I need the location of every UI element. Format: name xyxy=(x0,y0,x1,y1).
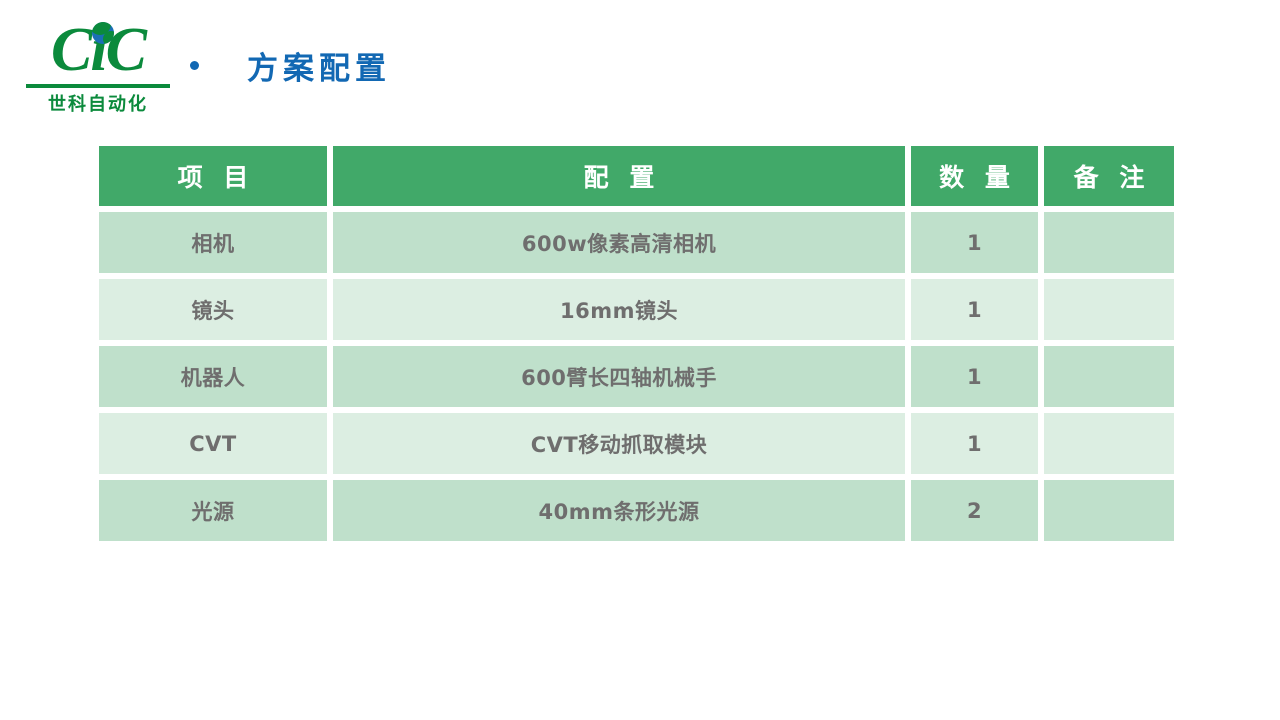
cell-qty: 1 xyxy=(911,212,1038,273)
logo-underline xyxy=(26,84,170,88)
logo-mark: CiC xyxy=(22,18,174,86)
table-row: 光源 40mm条形光源 2 xyxy=(99,480,1174,541)
cell-config: 600w像素高清相机 xyxy=(333,212,905,273)
cell-qty: 1 xyxy=(911,279,1038,340)
cell-qty: 2 xyxy=(911,480,1038,541)
table-header: 项 目 配 置 数 量 备 注 xyxy=(99,146,1174,206)
cell-note xyxy=(1044,212,1174,273)
column-header-config: 配 置 xyxy=(333,146,905,206)
bullet-icon xyxy=(190,61,199,70)
globe-icon xyxy=(92,22,114,44)
cell-config: 16mm镜头 xyxy=(333,279,905,340)
cell-config: 600臂长四轴机械手 xyxy=(333,346,905,407)
column-header-note: 备 注 xyxy=(1044,146,1174,206)
company-logo: CiC 世科自动化 xyxy=(22,18,174,116)
cell-item: 光源 xyxy=(99,480,327,541)
table-row: CVT CVT移动抓取模块 1 xyxy=(99,413,1174,474)
column-header-item: 项 目 xyxy=(99,146,327,206)
table-header-row: 项 目 配 置 数 量 备 注 xyxy=(99,146,1174,206)
slide-title-row: 方案配置 xyxy=(190,40,391,90)
cell-note xyxy=(1044,413,1174,474)
cell-item: 镜头 xyxy=(99,279,327,340)
cell-item: 相机 xyxy=(99,212,327,273)
table-row: 机器人 600臂长四轴机械手 1 xyxy=(99,346,1174,407)
cell-note xyxy=(1044,346,1174,407)
cell-qty: 1 xyxy=(911,346,1038,407)
table-body: 相机 600w像素高清相机 1 镜头 16mm镜头 1 机器人 600臂长四轴机… xyxy=(99,212,1174,541)
cell-item: CVT xyxy=(99,413,327,474)
cell-qty: 1 xyxy=(911,413,1038,474)
cell-item: 机器人 xyxy=(99,346,327,407)
cell-config: CVT移动抓取模块 xyxy=(333,413,905,474)
cell-note xyxy=(1044,279,1174,340)
globe-arc-bottom xyxy=(103,31,114,44)
logo-subtitle: 世科自动化 xyxy=(22,90,174,116)
cell-config: 40mm条形光源 xyxy=(333,480,905,541)
column-header-qty: 数 量 xyxy=(911,146,1038,206)
slide-header: CiC 世科自动化 方案配置 xyxy=(0,0,1280,130)
configuration-table: 项 目 配 置 数 量 备 注 相机 600w像素高清相机 1 镜头 16mm镜… xyxy=(99,146,1174,547)
table-row: 相机 600w像素高清相机 1 xyxy=(99,212,1174,273)
cell-note xyxy=(1044,480,1174,541)
page-title: 方案配置 xyxy=(247,43,391,88)
table-row: 镜头 16mm镜头 1 xyxy=(99,279,1174,340)
